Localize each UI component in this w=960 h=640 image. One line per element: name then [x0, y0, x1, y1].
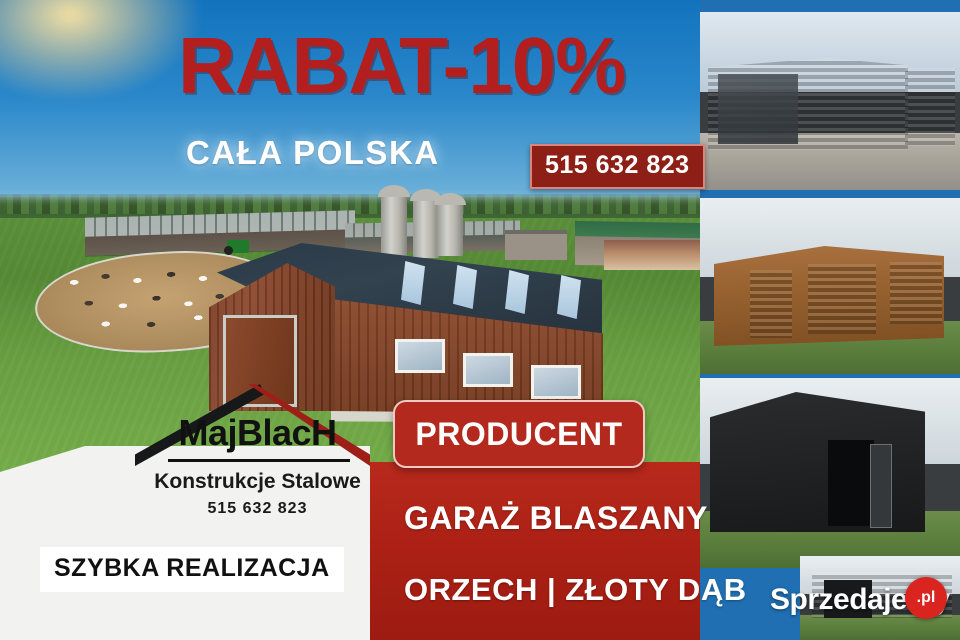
company-name: MajBlacH	[150, 412, 365, 454]
thumb-door-right	[890, 262, 942, 324]
barn-window	[463, 353, 513, 387]
company-phone[interactable]: 515 632 823	[150, 500, 365, 518]
watermark-tld-badge: .pl	[905, 577, 947, 619]
thumbnail-graphite-garage	[700, 12, 960, 190]
thumb-open-door-leaf	[870, 444, 892, 528]
thumb-black-garage-body	[710, 392, 925, 532]
logo-divider	[168, 459, 350, 462]
product-label: GARAŻ BLASZANY	[404, 500, 708, 537]
producer-badge: PRODUCENT	[393, 400, 645, 468]
phone-badge-top[interactable]: 515 632 823	[530, 144, 705, 189]
barn-window	[531, 365, 581, 399]
thumbnail-wood-look-garage	[700, 198, 960, 374]
barn-window	[395, 339, 445, 373]
coverage-text: CAŁA POLSKA	[186, 134, 440, 172]
fast-delivery-banner: SZYBKA REALIZACJA	[40, 547, 344, 592]
red-info-panel	[368, 462, 700, 640]
roof-skylight	[401, 261, 425, 305]
sun-glow	[0, 0, 200, 100]
roof-skylight	[557, 275, 581, 319]
advertisement-banner: RABAT-10% CAŁA POLSKA 515 632 823 GARAŻ …	[0, 0, 960, 640]
thumb-garage-bay	[905, 68, 955, 146]
thumb-open-doorway	[828, 440, 874, 526]
finishes-label: ORZECH | ZŁOTY DĄB	[404, 572, 747, 608]
roof-skylight	[453, 265, 477, 309]
thumbnail-black-garage	[700, 378, 960, 568]
background-farmhouse-right	[604, 240, 700, 270]
thumb-grass	[800, 615, 960, 640]
discount-headline: RABAT-10%	[178, 26, 625, 106]
thumb-garage-door	[718, 74, 798, 144]
roof-skylight	[505, 270, 529, 314]
company-tagline: Konstrukcje Stalowe	[150, 470, 365, 494]
thumb-door-left	[750, 270, 792, 338]
thumb-door-middle	[808, 264, 876, 334]
